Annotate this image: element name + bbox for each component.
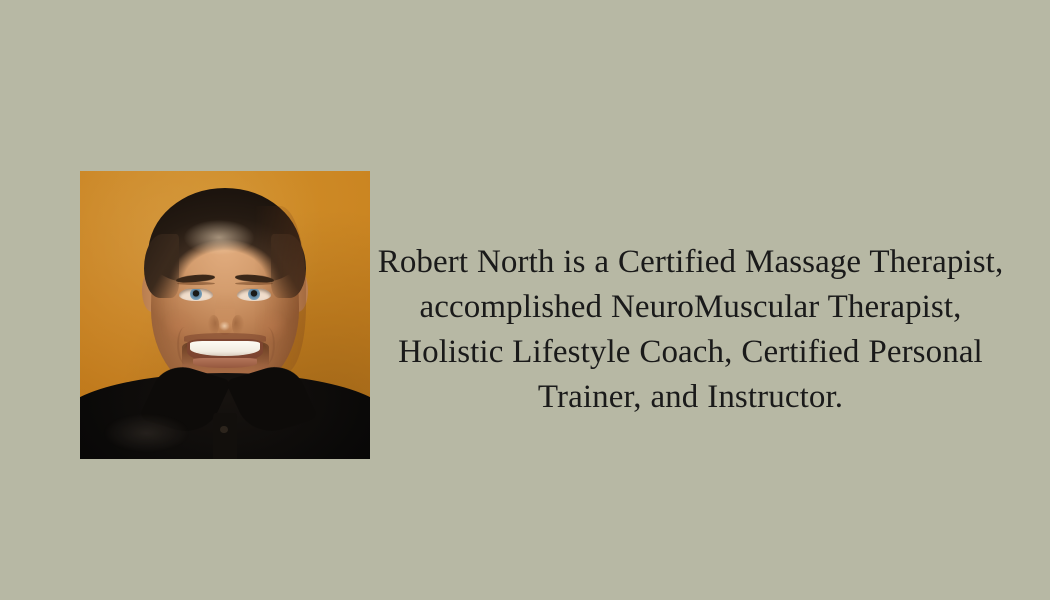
eyelid-crease-left: [177, 282, 215, 285]
nostril-right: [232, 315, 244, 335]
eye-left: [179, 288, 214, 301]
shirt-placket: [213, 413, 236, 459]
eye-right: [237, 288, 272, 301]
portrait-photo: [80, 171, 370, 459]
nose-highlight: [219, 321, 231, 331]
iris-left: [190, 288, 202, 300]
forehead-highlight: [184, 220, 254, 255]
lower-lip: [193, 358, 257, 368]
teeth: [190, 341, 259, 355]
eyelid-crease-right: [235, 282, 273, 285]
iris-right: [248, 288, 260, 300]
bio-paragraph: Robert North is a Certified Massage Ther…: [363, 240, 1018, 420]
shirt-highlight: [103, 413, 190, 453]
hair-side-left: [144, 234, 179, 297]
slide-canvas: Robert North is a Certified Massage Ther…: [0, 0, 1050, 600]
portrait-figure: [80, 171, 370, 459]
